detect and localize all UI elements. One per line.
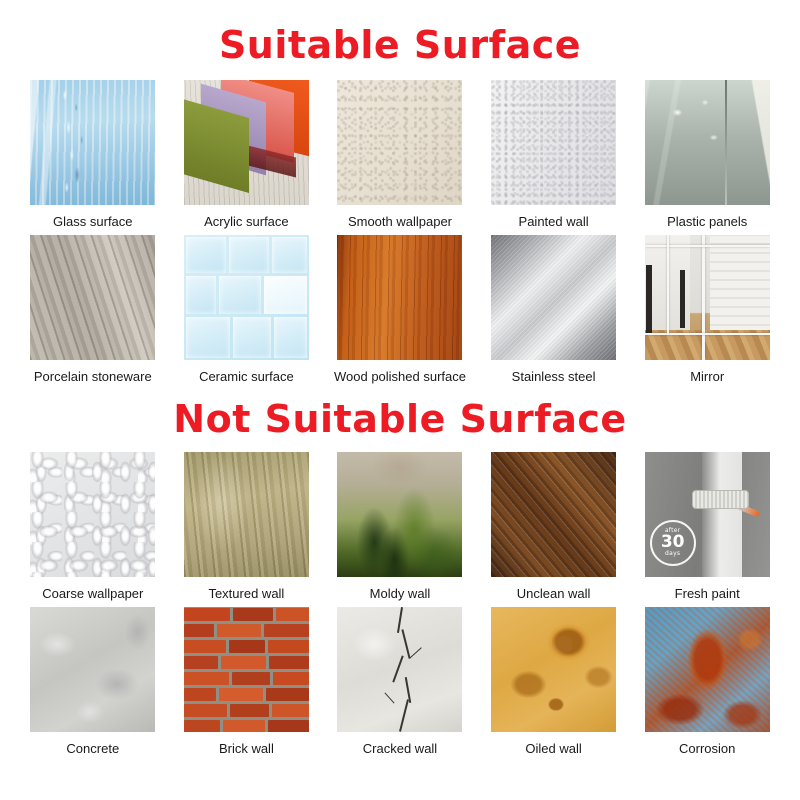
surface-card-moldy-wall[interactable]: Moldy wall [323,452,477,601]
texture-ceramic-surface [184,235,309,360]
not-suitable-row-1: Coarse wallpaper Textured wall Moldy wal… [0,452,800,601]
after-30-days-badge: after 30 days [650,520,696,566]
surface-card-porcelain-stoneware[interactable]: Porcelain stoneware [16,235,170,384]
texture-glass [30,80,155,205]
surface-thumbnail-smooth-wallpaper [337,80,462,205]
brick [266,688,309,701]
surface-label: Unclean wall [517,586,591,601]
ceramic-tile [233,317,271,358]
surface-card-acrylic-surface[interactable]: Acrylic surface [170,80,324,229]
surface-card-wood-polished-surface[interactable]: Wood polished surface [323,235,477,384]
crack-line [400,699,410,732]
surface-card-plastic-panels[interactable]: Plastic panels [630,80,784,229]
texture-textured-wall [184,452,309,577]
crack-branch [410,647,423,658]
brick [184,608,230,621]
mirror-door-dark [680,270,685,328]
surface-label: Cracked wall [363,741,437,756]
surface-label: Acrylic surface [204,214,289,229]
texture-corrosion [645,607,770,732]
brick [184,720,220,732]
brick [264,624,309,637]
surface-card-fresh-paint[interactable]: after 30 days Fresh paint [630,452,784,601]
brick [268,720,309,732]
ceramic-tile [264,276,307,314]
mirror-door-dark [646,265,652,335]
surface-label: Textured wall [208,586,284,601]
texture-unclean-wall [491,452,616,577]
texture-coarse-wallpaper [30,452,155,577]
brick [232,672,270,685]
surface-card-textured-wall[interactable]: Textured wall [170,452,324,601]
surface-label: Fresh paint [675,586,740,601]
brick [223,720,265,732]
surface-label: Plastic panels [667,214,747,229]
surface-card-ceramic-surface[interactable]: Ceramic surface [170,235,324,384]
suitable-row-1: Glass surface Acrylic surface Smooth wal… [0,80,800,229]
texture-painted-wall [491,80,616,205]
surface-label: Smooth wallpaper [348,214,452,229]
mirror-frame-vertical [667,235,669,335]
texture-mirror [645,235,770,360]
surface-card-smooth-wallpaper[interactable]: Smooth wallpaper [323,80,477,229]
ceramic-tile [186,237,226,273]
section-heading-suitable: Suitable Surface [0,0,800,64]
texture-stainless-steel [491,235,616,360]
surface-thumbnail-ceramic-surface [184,235,309,360]
texture-smooth-wallpaper [337,80,462,205]
brick [229,640,265,653]
surface-label: Wood polished surface [334,369,466,384]
crack-line [393,656,404,683]
ceramic-tile [186,317,230,358]
surface-thumbnail-glass-surface [30,80,155,205]
surface-card-stainless-steel[interactable]: Stainless steel [477,235,631,384]
texture-fresh-paint: after 30 days [645,452,770,577]
texture-acrylic [184,80,309,205]
texture-concrete [30,607,155,732]
ceramic-tile [274,317,307,358]
texture-cracked-wall [337,607,462,732]
brick [230,704,269,717]
texture-wood-polished [337,235,462,360]
brick [268,640,309,653]
crack-branch [385,692,395,703]
paint-roller-icon [692,490,749,510]
surface-label: Concrete [66,741,119,756]
ceramic-tile [272,237,307,273]
mirror-wall-right [710,235,770,333]
brick [269,656,309,669]
surface-thumbnail-wood-polished-surface [337,235,462,360]
surface-card-oiled-wall[interactable]: Oiled wall [477,607,631,756]
surface-thumbnail-moldy-wall [337,452,462,577]
surface-label: Painted wall [519,214,589,229]
brick [273,672,309,685]
surface-thumbnail-porcelain-stoneware [30,235,155,360]
brick [184,704,227,717]
brick [219,688,263,701]
surface-card-corrosion[interactable]: Corrosion [630,607,784,756]
brick [184,656,218,669]
surface-thumbnail-unclean-wall [491,452,616,577]
brick [276,608,309,621]
surface-card-painted-wall[interactable]: Painted wall [477,80,631,229]
surface-card-concrete[interactable]: Concrete [16,607,170,756]
brick [184,672,229,685]
ceramic-tile [186,276,216,314]
texture-plastic-panels [645,80,770,205]
texture-porcelain-stoneware [30,235,155,360]
brick [184,624,214,637]
surface-thumbnail-concrete [30,607,155,732]
suitable-row-2: Porcelain stoneware Ceramic surface [0,235,800,384]
surface-card-glass-surface[interactable]: Glass surface [16,80,170,229]
surface-label: Ceramic surface [199,369,294,384]
surface-label: Coarse wallpaper [42,586,143,601]
surface-thumbnail-mirror [645,235,770,360]
crack-line [402,629,411,659]
surface-thumbnail-stainless-steel [491,235,616,360]
surface-thumbnail-cracked-wall [337,607,462,732]
brick [184,640,226,653]
surface-label: Corrosion [679,741,735,756]
surface-thumbnail-brick-wall [184,607,309,732]
brick [272,704,309,717]
badge-number: 30 [661,534,685,551]
surface-label: Oiled wall [525,741,581,756]
surface-label: Moldy wall [370,586,431,601]
surface-label: Porcelain stoneware [34,369,152,384]
mirror-frame-horizontal [645,333,770,335]
surface-label: Mirror [690,369,724,384]
texture-brick-wall [184,607,309,732]
surface-thumbnail-oiled-wall [491,607,616,732]
ceramic-tile [219,276,261,314]
paint-wet-stripe [702,452,742,577]
brick [233,608,273,621]
surface-card-cracked-wall[interactable]: Cracked wall [323,607,477,756]
surface-card-mirror[interactable]: Mirror [630,235,784,384]
surface-thumbnail-textured-wall [184,452,309,577]
brick [221,656,266,669]
surface-card-coarse-wallpaper[interactable]: Coarse wallpaper [16,452,170,601]
brick [184,688,216,701]
not-suitable-row-2: Concrete [0,607,800,756]
surface-card-brick-wall[interactable]: Brick wall [170,607,324,756]
ceramic-tile [229,237,269,273]
texture-oiled-wall [491,607,616,732]
surface-thumbnail-plastic-panels [645,80,770,205]
surface-thumbnail-corrosion [645,607,770,732]
surface-thumbnail-coarse-wallpaper [30,452,155,577]
badge-bottom-text: days [665,551,680,557]
surface-card-unclean-wall[interactable]: Unclean wall [477,452,631,601]
surface-label: Stainless steel [512,369,596,384]
mirror-frame-horizontal [645,245,770,247]
surface-label: Brick wall [219,741,274,756]
surface-label: Glass surface [53,214,132,229]
brick [217,624,261,637]
surface-thumbnail-painted-wall [491,80,616,205]
surface-thumbnail-acrylic-surface [184,80,309,205]
texture-moldy-wall [337,452,462,577]
surface-thumbnail-fresh-paint: after 30 days [645,452,770,577]
section-heading-not-suitable: Not Suitable Surface [0,384,800,438]
mirror-floor [645,330,770,360]
infographic-sheet: Suitable Surface Glass surface Acrylic s… [0,0,800,800]
mirror-frame-vertical [702,235,705,360]
